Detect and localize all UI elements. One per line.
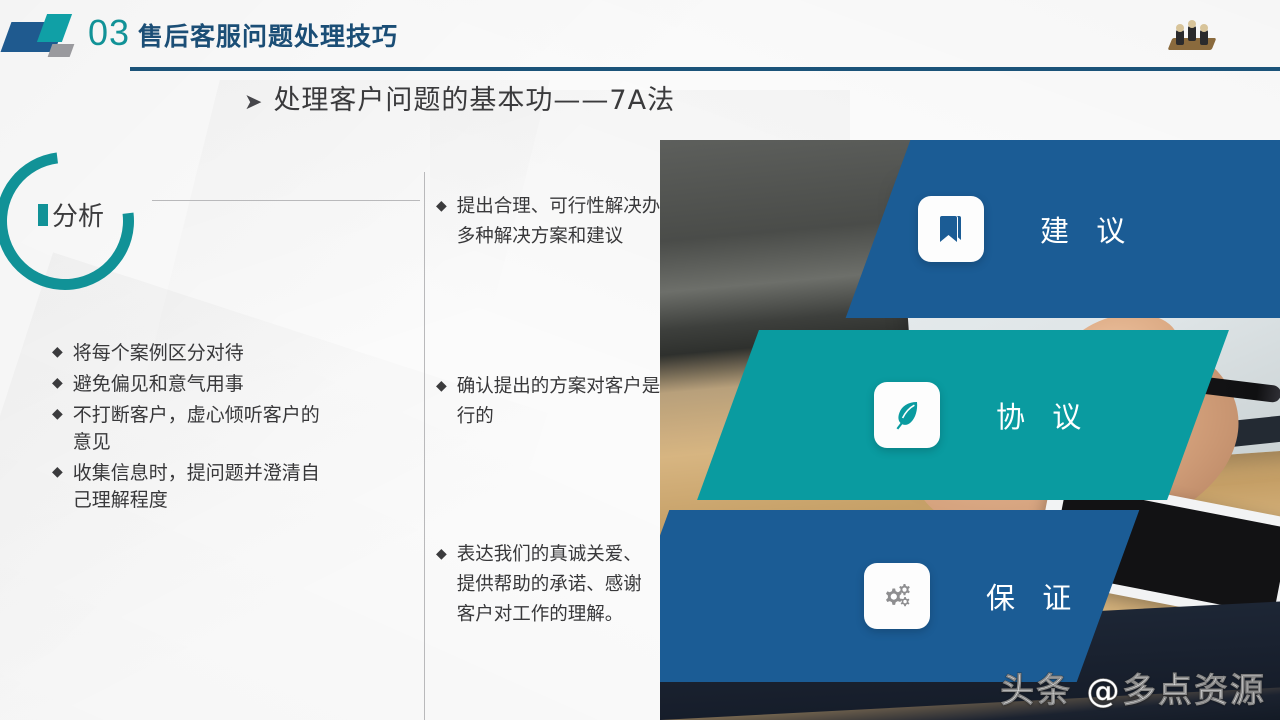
list-item: ◆ 将每个案例区分对待 <box>52 340 402 367</box>
list-item-text: 不打断客户，虚心倾听客户的 意见 <box>73 402 320 456</box>
brand-logo-icon <box>6 14 86 58</box>
photo-figure <box>1188 26 1196 41</box>
section-number: 03 <box>88 12 130 54</box>
logo-gray-shape <box>48 44 75 57</box>
photo-figure-head <box>1188 20 1196 28</box>
slide-header: 03 售后客服问题处理技巧 <box>0 0 1280 70</box>
panel-agreement-content: 协 议 <box>874 382 1090 448</box>
analysis-label-group: 分析 <box>38 196 104 233</box>
list-item: ◆ 避免偏见和意气用事 <box>52 371 402 398</box>
panel-advice-label: 建 议 <box>1040 208 1134 250</box>
analysis-label: 分析 <box>52 196 104 233</box>
diamond-bullet-icon: ◆ <box>52 345 63 359</box>
feather-icon <box>874 382 940 448</box>
panel-assurance-label: 保 证 <box>986 575 1080 617</box>
right-visual-stage: 建 议 协 议 <box>660 140 1280 720</box>
panel-assurance-content: 保 证 <box>864 563 1080 629</box>
list-item-text: 收集信息时，提问题并澄清自 己理解程度 <box>73 460 320 514</box>
diamond-bullet-icon: ◆ <box>52 465 63 479</box>
panel-advice-content: 建 议 <box>918 196 1134 262</box>
analysis-divider-line <box>152 200 420 201</box>
list-item-text: 避免偏见和意气用事 <box>73 371 244 398</box>
list-item: ◆ 不打断客户，虚心倾听客户的 意见 <box>52 402 402 456</box>
diamond-bullet-icon: ◆ <box>436 547 447 561</box>
panel-agreement[interactable]: 协 议 <box>697 330 1229 500</box>
diamond-bullet-icon: ◆ <box>52 376 63 390</box>
photo-figure <box>1200 30 1208 45</box>
page-title: 售后客服问题处理技巧 <box>138 17 398 53</box>
photo-figure <box>1176 30 1184 45</box>
triangle-right-bullet-icon: ➤ <box>244 90 263 115</box>
teal-square-marker-icon <box>38 204 48 226</box>
list-item-text: 确认提出的方案对客户是可 行的 <box>457 372 679 432</box>
column-divider-line <box>424 172 425 720</box>
diamond-bullet-icon: ◆ <box>52 407 63 421</box>
bookmark-icon <box>918 196 984 262</box>
panel-agreement-label: 协 议 <box>996 394 1090 436</box>
panel-advice[interactable]: 建 议 <box>846 140 1280 318</box>
photo-figure-head <box>1176 24 1184 32</box>
list-item: ◆ 收集信息时，提问题并澄清自 己理解程度 <box>52 460 402 514</box>
panel-assurance[interactable]: 保 证 <box>660 510 1139 682</box>
list-item-text: 表达我们的真诚关爱、 提供帮助的承诺、感谢 客户对工作的理解。 <box>457 540 642 630</box>
gears-icon <box>864 563 930 629</box>
header-underline <box>130 67 1280 71</box>
left-bullet-list: ◆ 将每个案例区分对待 ◆ 避免偏见和意气用事 ◆ 不打断客户，虚心倾听客户的 … <box>52 340 402 518</box>
watermark-text: 头条 @多点资源 <box>1000 663 1266 712</box>
meeting-figures-photo-icon <box>1166 18 1218 56</box>
subtitle-text: 处理客户问题的基本功——7A法 <box>273 85 675 116</box>
photo-figure-head <box>1200 24 1208 32</box>
slide-canvas: 03 售后客服问题处理技巧 ➤处理客户问题的基本功——7A法 分析 ◆ 将每个案… <box>0 0 1280 720</box>
diamond-bullet-icon: ◆ <box>436 379 447 393</box>
slide-subtitle: ➤处理客户问题的基本功——7A法 <box>244 78 675 117</box>
list-item-text: 将每个案例区分对待 <box>73 340 244 367</box>
diamond-bullet-icon: ◆ <box>436 199 447 213</box>
logo-teal-shape <box>37 14 72 42</box>
